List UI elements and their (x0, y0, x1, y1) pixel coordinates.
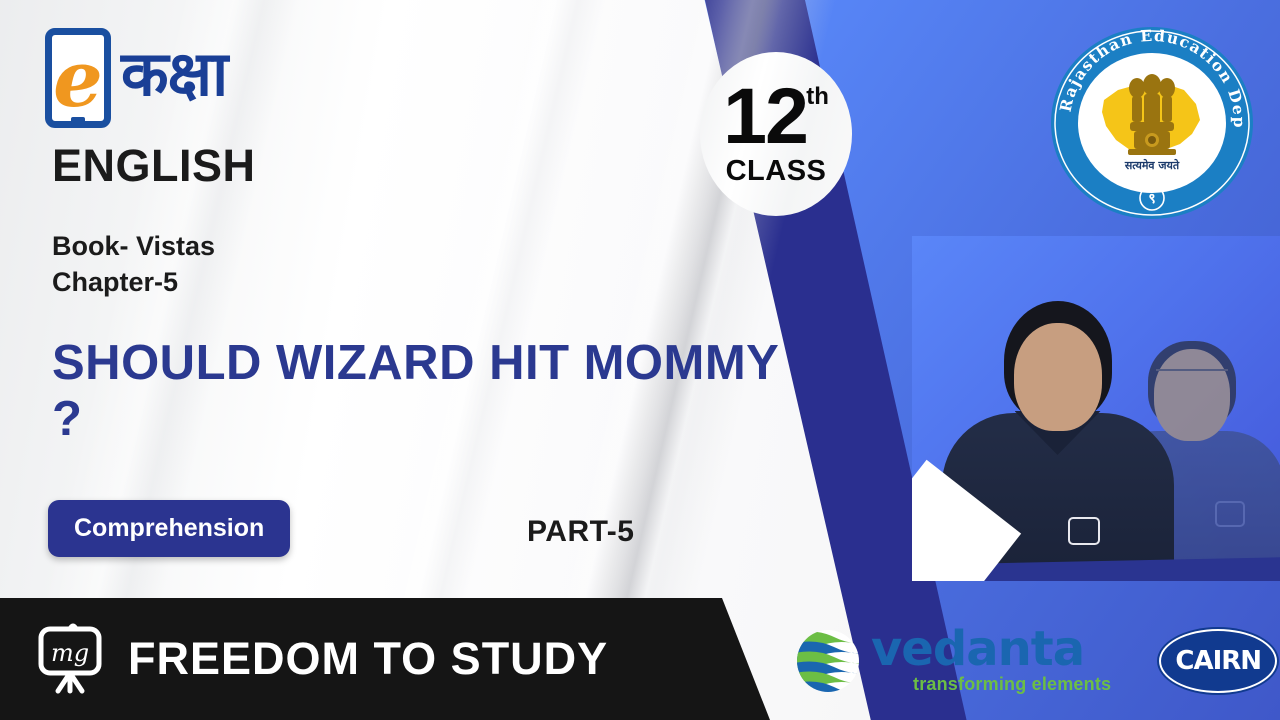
presenter-back-mg-logo (1215, 501, 1245, 527)
book-chapter-block: Book- Vistas Chapter-5 (52, 228, 215, 301)
logo-kaksha-text: कक्षा (121, 44, 227, 112)
cairn-name: CAIRN (1175, 646, 1261, 676)
class-badge: 12th CLASS (700, 52, 852, 216)
rajasthan-education-department-emblem: Rajasthan Education Department सत्यमेव ज… (1046, 22, 1258, 224)
class-ordinal-suffix: th (806, 86, 829, 108)
class-number-value: 12 (723, 71, 807, 160)
cairn-logo: CAIRN (1159, 629, 1277, 693)
vedanta-globe-icon (794, 627, 862, 695)
vedanta-name: vedanta (871, 627, 1111, 672)
vedanta-text-block: vedanta transforming elements (871, 627, 1111, 694)
svg-text:mg: mg (51, 639, 89, 667)
footer-tagline: FREEDOM TO STUDY (128, 633, 608, 685)
topic-badge: Comprehension (48, 500, 290, 557)
title-slide: e कक्षा ENGLISH Book- Vistas Chapter-5 S… (0, 0, 1280, 720)
book-name: Book- Vistas (52, 228, 215, 264)
vedanta-tagline: transforming elements (913, 674, 1111, 695)
presenter-front-head (1014, 323, 1102, 431)
presenters-photo (912, 236, 1280, 581)
chapter-number: Chapter-5 (52, 264, 215, 300)
class-number: 12th (723, 80, 829, 153)
subject-heading: ENGLISH (52, 140, 256, 192)
svg-text:सत्यमेव जयते: सत्यमेव जयते (1124, 158, 1180, 172)
ekaksha-logo: e कक्षा (45, 28, 227, 128)
vedanta-logo: vedanta transforming elements (794, 627, 1111, 695)
part-label: PART-5 (527, 515, 634, 549)
mg-blackboard-icon: mg (34, 623, 106, 695)
svg-text:९: ९ (1148, 191, 1155, 207)
presenter-front-mg-logo (1068, 517, 1100, 545)
sponsor-logos: vedanta transforming elements CAIRN (780, 606, 1280, 716)
phone-icon: e (45, 28, 111, 128)
lesson-title: SHOULD WIZARD HIT MOMMY ? (52, 336, 812, 448)
logo-e-letter: e (53, 49, 103, 111)
footer-bar: mg FREEDOM TO STUDY (0, 598, 770, 720)
